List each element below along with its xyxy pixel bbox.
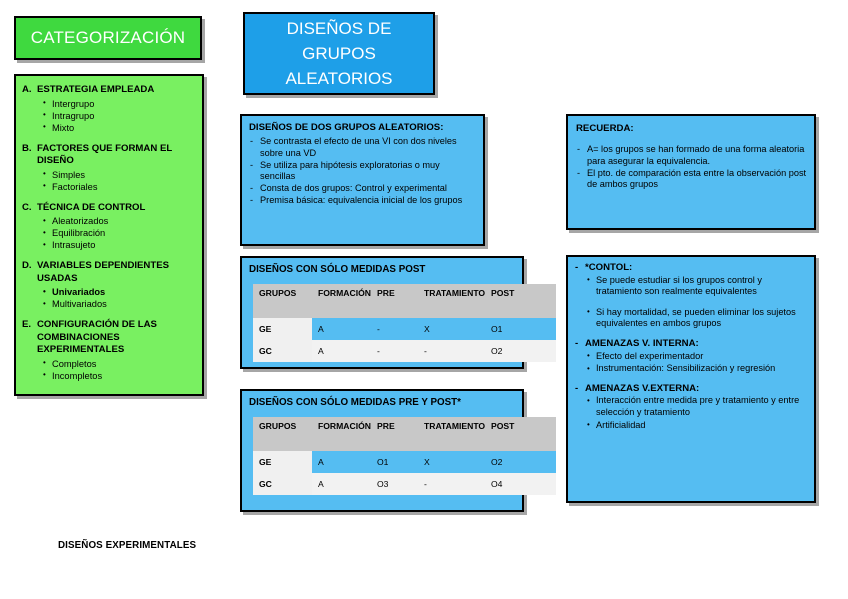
categorization-group-title: TÉCNICA DE CONTROL xyxy=(37,202,196,215)
list-item: Premisa básica: equivalencia inicial de … xyxy=(249,195,477,207)
categorization-group-heading: B.FACTORES QUE FORMAN EL DISEÑO xyxy=(22,143,196,168)
categorization-group-heading: D.VARIABLES DEPENDIENTES USADAS xyxy=(22,260,196,285)
cell-group: GE xyxy=(253,318,312,340)
cell-pre: - xyxy=(371,340,418,362)
two-groups-heading: DISEÑOS DE DOS GRUPOS ALEATORIOS: xyxy=(249,121,477,134)
cell-group: GC xyxy=(253,473,312,495)
cell-tratamiento: X xyxy=(418,451,485,473)
list-item: Instrumentación: Sensibilización y regre… xyxy=(588,363,808,375)
two-groups-list: Se contrasta el efecto de una VI con dos… xyxy=(249,136,477,207)
categorization-list-box: A.ESTRATEGIA EMPLEADAIntergrupoIntragrup… xyxy=(14,74,204,396)
categorization-group-title: CONFIGURACIÓN DE LAS COMBINACIONES EXPER… xyxy=(37,319,196,357)
categorization-group: D.VARIABLES DEPENDIENTES USADASUnivariad… xyxy=(22,260,196,310)
control-section-heading: AMENAZAS V. INTERNA: xyxy=(574,338,808,350)
col-post: POST xyxy=(485,417,556,451)
list-item: Factoriales xyxy=(52,181,196,193)
list-item: Intragrupo xyxy=(52,110,196,122)
categorization-group-letter: A. xyxy=(22,84,37,97)
list-item: El pto. de comparación esta entre la obs… xyxy=(576,168,808,191)
cell-pre: O1 xyxy=(371,451,418,473)
list-item: Se contrasta el efecto de una VI con dos… xyxy=(249,136,477,159)
cell-group: GE xyxy=(253,451,312,473)
main-title-line-1: DISEÑOS DE xyxy=(287,16,392,41)
categorization-groups: A.ESTRATEGIA EMPLEADAIntergrupoIntragrup… xyxy=(22,84,196,382)
recuerda-heading: RECUERDA: xyxy=(576,122,808,135)
categorization-group-title: ESTRATEGIA EMPLEADA xyxy=(37,84,196,97)
control-threats-box: *CONTOL:Se puede estudiar si los grupos … xyxy=(566,255,816,503)
categorization-group-letter: B. xyxy=(22,143,37,168)
table-post-box: DISEÑOS CON SÓLO MEDIDAS POST GRUPOS FOR… xyxy=(240,256,524,369)
control-section-items: Se puede estudiar si los grupos control … xyxy=(574,275,808,330)
cell-post: O1 xyxy=(485,318,556,340)
section-spacer xyxy=(574,330,808,337)
main-title-line-3: ALEATORIOS xyxy=(285,66,392,91)
list-item: Intrasujeto xyxy=(52,239,196,251)
two-groups-box: DISEÑOS DE DOS GRUPOS ALEATORIOS: Se con… xyxy=(240,114,485,246)
categorization-group-heading: E.CONFIGURACIÓN DE LAS COMBINACIONES EXP… xyxy=(22,319,196,357)
categorization-group-letter: D. xyxy=(22,260,37,285)
categorization-group-letter: C. xyxy=(22,202,37,215)
cell-tratamiento: - xyxy=(418,340,485,362)
cell-formacion: A xyxy=(312,340,371,362)
control-threats-list: *CONTOL:Se puede estudiar si los grupos … xyxy=(574,262,808,431)
categorization-group-title: VARIABLES DEPENDIENTES USADAS xyxy=(37,260,196,285)
categorization-group-heading: C.TÉCNICA DE CONTROL xyxy=(22,202,196,215)
list-item: Univariados xyxy=(52,286,196,298)
main-title-line-2: GRUPOS xyxy=(302,41,376,66)
recuerda-box: RECUERDA: A= los grupos se han formado d… xyxy=(566,114,816,230)
list-item: Se puede estudiar si los grupos control … xyxy=(588,275,808,298)
cell-formacion: A xyxy=(312,318,371,340)
table-header-row: GRUPOS FORMACIÓN PRE TRATAMIENTO POST xyxy=(253,417,556,451)
control-section-items-wrapper: Interacción entre medida pre y tratamien… xyxy=(574,395,808,431)
list-item: Interacción entre medida pre y tratamien… xyxy=(588,395,808,418)
table-row: GE A - X O1 xyxy=(253,318,556,340)
list-item: Intergrupo xyxy=(52,98,196,110)
list-item: Incompletos xyxy=(52,370,196,382)
table-prepost-box: DISEÑOS CON SÓLO MEDIDAS PRE Y POST* GRU… xyxy=(240,389,524,512)
categorization-header-title: CATEGORIZACIÓN xyxy=(31,28,186,48)
list-item: Se utiliza para hipótesis exploratorias … xyxy=(249,160,477,183)
table-prepost-title: DISEÑOS CON SÓLO MEDIDAS PRE Y POST* xyxy=(249,396,522,409)
main-title-box: DISEÑOS DE GRUPOS ALEATORIOS xyxy=(243,12,435,95)
categorization-group-items: SimplesFactoriales xyxy=(22,169,196,193)
categorization-group-heading: A.ESTRATEGIA EMPLEADA xyxy=(22,84,196,97)
list-item: Artificialidad xyxy=(588,420,808,432)
cell-pre: - xyxy=(371,318,418,340)
recuerda-list: A= los grupos se han formado de una form… xyxy=(576,144,808,191)
categorization-group: B.FACTORES QUE FORMAN EL DISEÑOSimplesFa… xyxy=(22,143,196,193)
col-grupos: GRUPOS xyxy=(253,417,312,451)
categorization-group: C.TÉCNICA DE CONTROLAleatorizadosEquilib… xyxy=(22,202,196,252)
categorization-group: A.ESTRATEGIA EMPLEADAIntergrupoIntragrup… xyxy=(22,84,196,134)
table-post: GRUPOS FORMACIÓN PRE TRATAMIENTO POST GE… xyxy=(253,284,556,362)
table-post-title: DISEÑOS CON SÓLO MEDIDAS POST xyxy=(249,263,522,276)
categorization-group-items: AleatorizadosEquilibraciónIntrasujeto xyxy=(22,215,196,251)
list-item: Multivariados xyxy=(52,298,196,310)
col-pre: PRE xyxy=(371,417,418,451)
footer-label: DISEÑOS EXPERIMENTALES xyxy=(58,540,196,551)
item-spacer xyxy=(588,299,808,306)
table-row: GC A - - O2 xyxy=(253,340,556,362)
table-row: GE A O1 X O2 xyxy=(253,451,556,473)
cell-formacion: A xyxy=(312,451,371,473)
list-item: Mixto xyxy=(52,122,196,134)
list-item: Aleatorizados xyxy=(52,215,196,227)
cell-formacion: A xyxy=(312,473,371,495)
table-row: GC A O3 - O4 xyxy=(253,473,556,495)
col-tratamiento: TRATAMIENTO xyxy=(418,417,485,451)
control-section-items-wrapper: Efecto del experimentadorInstrumentación… xyxy=(574,351,808,375)
list-item: Si hay mortalidad, se pueden eliminar lo… xyxy=(588,307,808,330)
list-item: Simples xyxy=(52,169,196,181)
list-item: Completos xyxy=(52,358,196,370)
control-section-items: Interacción entre medida pre y tratamien… xyxy=(574,395,808,431)
list-item: Efecto del experimentador xyxy=(588,351,808,363)
control-section-heading: AMENAZAS V.EXTERNA: xyxy=(574,383,808,395)
categorization-group: E.CONFIGURACIÓN DE LAS COMBINACIONES EXP… xyxy=(22,319,196,382)
col-pre: PRE xyxy=(371,284,418,318)
cell-post: O2 xyxy=(485,340,556,362)
categorization-group-title: FACTORES QUE FORMAN EL DISEÑO xyxy=(37,143,196,168)
col-grupos: GRUPOS xyxy=(253,284,312,318)
list-item: Equilibración xyxy=(52,227,196,239)
cell-post: O4 xyxy=(485,473,556,495)
categorization-header-box: CATEGORIZACIÓN xyxy=(14,16,202,60)
list-item: Consta de dos grupos: Control y experime… xyxy=(249,183,477,195)
cell-group: GC xyxy=(253,340,312,362)
cell-tratamiento: - xyxy=(418,473,485,495)
list-item: A= los grupos se han formado de una form… xyxy=(576,144,808,167)
control-section-items: Efecto del experimentadorInstrumentación… xyxy=(574,351,808,375)
col-post: POST xyxy=(485,284,556,318)
cell-post: O2 xyxy=(485,451,556,473)
col-formacion: FORMACIÓN xyxy=(312,284,371,318)
cell-pre: O3 xyxy=(371,473,418,495)
categorization-group-items: IntergrupoIntragrupoMixto xyxy=(22,98,196,134)
table-prepost: GRUPOS FORMACIÓN PRE TRATAMIENTO POST GE… xyxy=(253,417,556,495)
categorization-group-items: UnivariadosMultivariados xyxy=(22,286,196,310)
table-header-row: GRUPOS FORMACIÓN PRE TRATAMIENTO POST xyxy=(253,284,556,318)
col-tratamiento: TRATAMIENTO xyxy=(418,284,485,318)
cell-tratamiento: X xyxy=(418,318,485,340)
col-formacion: FORMACIÓN xyxy=(312,417,371,451)
section-spacer xyxy=(574,375,808,382)
categorization-group-items: CompletosIncompletos xyxy=(22,358,196,382)
control-section-items-wrapper: Se puede estudiar si los grupos control … xyxy=(574,275,808,330)
control-section-heading: *CONTOL: xyxy=(574,262,808,274)
categorization-group-letter: E. xyxy=(22,319,37,357)
